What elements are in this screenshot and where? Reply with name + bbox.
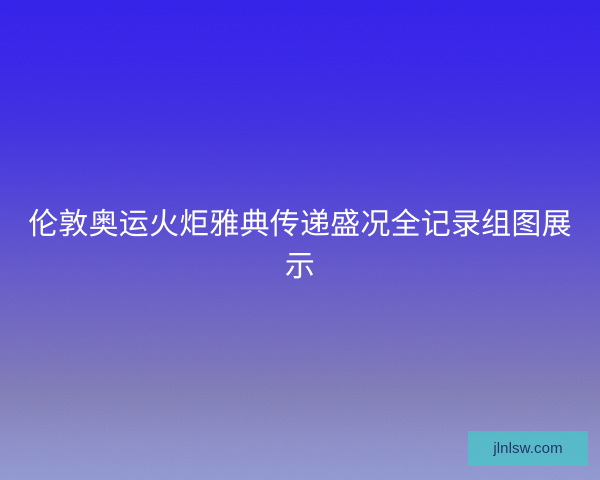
watermark-label: jlnlsw.com <box>493 441 562 456</box>
image-canvas: 伦敦奥运火炬雅典传递盛况全记录组图展示 jlnlsw.com <box>0 0 600 480</box>
page-title: 伦敦奥运火炬雅典传递盛况全记录组图展示 <box>0 204 600 288</box>
watermark-badge: jlnlsw.com <box>468 431 588 466</box>
